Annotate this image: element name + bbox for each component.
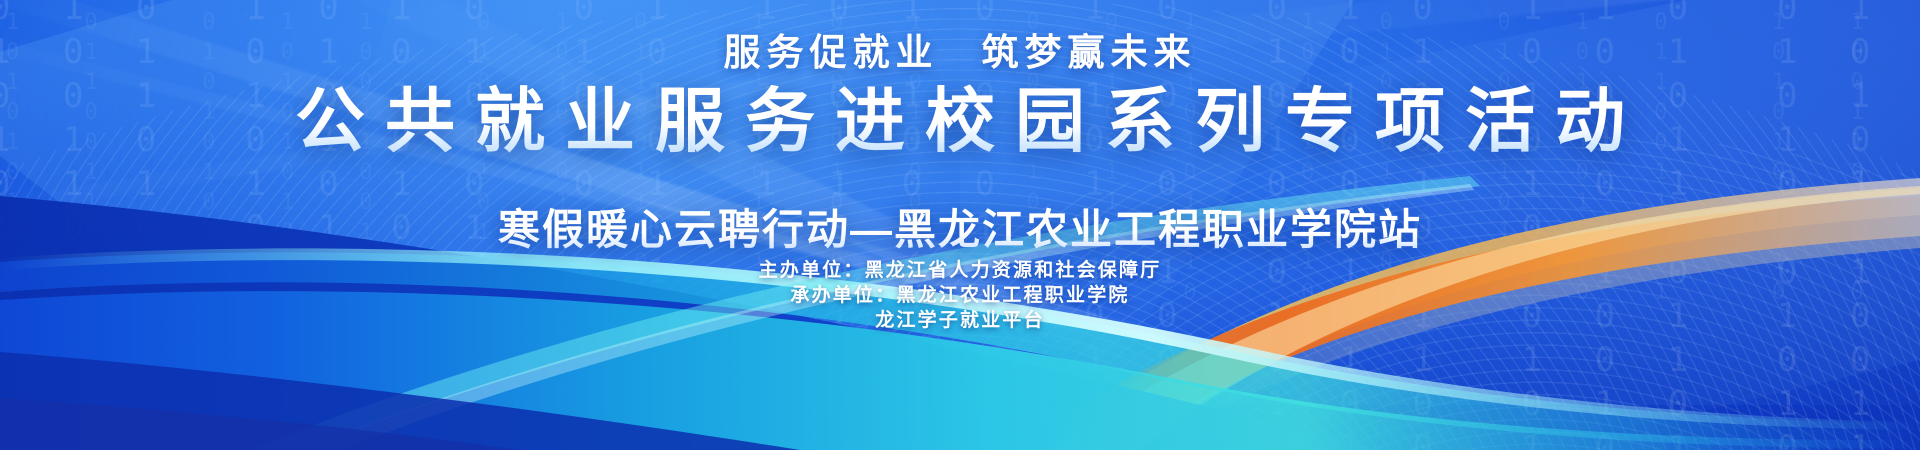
banner-tagline: 服务促就业 筑梦赢未来 [0, 22, 1920, 76]
organizer-line-platform: 龙江学子就业平台 [0, 308, 1920, 333]
banner-main-title: 公共就业服务进校园系列专项活动 [0, 82, 1920, 160]
banner-sub-title: 寒假暖心云聘行动—黑龙江农业工程职业学院站 [0, 196, 1920, 257]
organizer-line-coorganizer: 承办单位：黑龙江农业工程职业学院 [0, 283, 1920, 308]
organizer-line-host: 主办单位：黑龙江省人力资源和社会保障厅 [0, 258, 1920, 283]
event-banner: 0 1 0 1 0 1 0 0 1 1 0 1 0 1 0 0 1 0 1 1 … [0, 0, 1920, 450]
banner-content: 服务促就业 筑梦赢未来 公共就业服务进校园系列专项活动 寒假暖心云聘行动—黑龙江… [0, 0, 1920, 450]
organizer-block: 主办单位：黑龙江省人力资源和社会保障厅 承办单位：黑龙江农业工程职业学院 龙江学… [0, 258, 1920, 333]
